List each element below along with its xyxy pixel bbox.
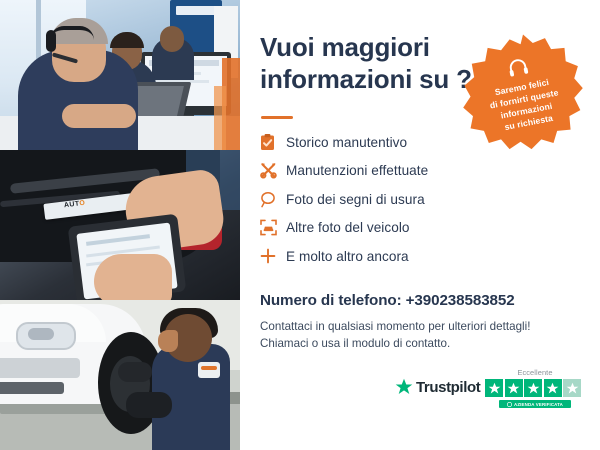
list-item-label: Storico manutentivo [286, 135, 407, 150]
tools-cross-icon [260, 160, 286, 182]
phone-number[interactable]: Numero di telefono: +390238583852 [260, 292, 515, 309]
headset-band-shape [50, 26, 94, 40]
car-inspection-photo: AUTO [0, 150, 240, 300]
list-item-label: Foto dei segni di usura [286, 192, 425, 207]
mechanic-glove-shape [118, 362, 152, 382]
badge-text: Saremo felici di fornirti queste informa… [486, 74, 564, 135]
page-title: Vuoi maggiori informazioni su ? [260, 32, 475, 95]
mechanic-face-shape [158, 330, 178, 352]
content-panel: Vuoi maggiori informazioni su ? Saremo f… [240, 0, 600, 450]
contact-line-1: Contattaci in qualsiasi momento per ulte… [260, 320, 530, 333]
uniform-badge-shape [198, 362, 220, 378]
trustpilot-logo: Trustpilot [395, 378, 480, 396]
agent-arm-shape [62, 104, 136, 128]
star-icon [544, 379, 562, 397]
headlight-inner-shape [28, 328, 54, 340]
star-icon [524, 379, 542, 397]
bumper-shape [0, 358, 80, 378]
list-item-label: E molto altro ancora [286, 249, 409, 264]
star-icon [505, 379, 523, 397]
clipboard-check-icon [260, 131, 286, 153]
call-center-photo [0, 0, 240, 150]
list-item-label: Manutenzioni effettuate [286, 163, 428, 178]
second-agent-hair-shape [110, 32, 144, 48]
hand-shape [94, 254, 172, 300]
list-item-label: Altre foto del veicolo [286, 220, 410, 235]
check-circle-icon [507, 402, 512, 407]
headset-icon [505, 55, 530, 79]
trustpilot-widget[interactable]: Trustpilot Eccellente [395, 368, 585, 414]
list-item: Manutenzioni effettuate [260, 157, 560, 186]
background-person-head-shape [160, 26, 184, 52]
verified-text: AZIENDA VERIFICATA [514, 402, 563, 407]
title-divider [261, 116, 293, 119]
lower-grille-shape [0, 382, 64, 394]
list-item: E molto altro ancora [260, 242, 560, 271]
star-rating [485, 379, 585, 397]
list-item: Foto dei segni di usura [260, 185, 560, 214]
list-item: Storico manutentivo [260, 128, 560, 157]
photo-column: AUTO [0, 0, 240, 450]
banner-label-shape [176, 6, 216, 15]
trustpilot-star-icon [395, 378, 413, 396]
feature-list: Storico manutentivo Manutenzioni effettu… [260, 128, 560, 271]
promo-card: AUTO [0, 0, 600, 450]
verified-badge: AZIENDA VERIFICATA [499, 400, 571, 408]
star-icon [485, 379, 503, 397]
list-item: Altre foto del veicolo [260, 214, 560, 243]
contact-line-2: Chiamaci o usa il modulo di contatto. [260, 337, 450, 350]
magnifier-icon [260, 188, 286, 210]
garage-tire-photo [0, 300, 240, 450]
star-icon-half [563, 379, 581, 397]
car-scan-icon [260, 217, 286, 239]
headset-earcup-shape [46, 30, 56, 52]
rating-label: Eccellente [485, 368, 585, 377]
trustpilot-rating: Eccellente [485, 368, 585, 408]
plus-icon [260, 245, 286, 267]
mechanic-glove-shape [126, 392, 172, 418]
trustpilot-wordmark: Trustpilot [416, 379, 480, 396]
orange-panel-shape [214, 86, 226, 150]
